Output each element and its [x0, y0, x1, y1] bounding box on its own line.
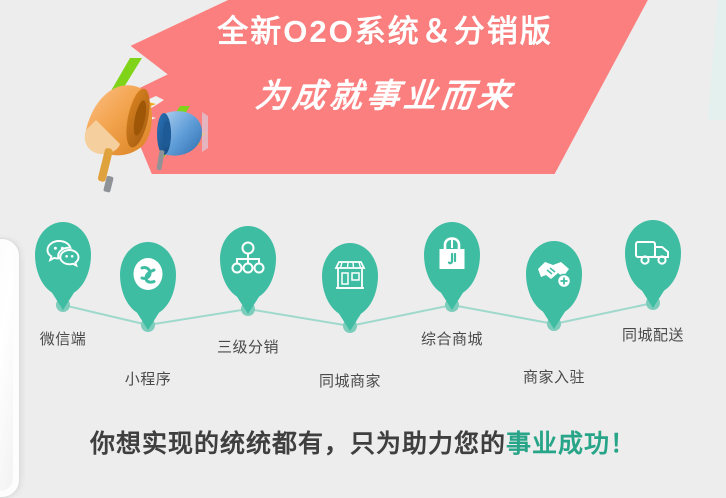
org-tree-icon — [220, 238, 276, 278]
feature-pin-merchant-join[interactable]: 商家入驻 — [526, 241, 582, 315]
tagline-plain-text: 你想实现的统统都有，只为助力您的 — [90, 430, 506, 458]
delivery-truck-icon — [625, 232, 681, 272]
pin-marker-shape — [625, 220, 681, 294]
shopping-bag-icon — [424, 234, 480, 274]
pin-marker-shape — [35, 222, 91, 296]
handshake-plus-icon — [526, 253, 582, 293]
pin-marker-shape — [120, 242, 176, 316]
megaphone-orange-icon — [85, 85, 154, 192]
wechat-bubbles-icon — [35, 234, 91, 274]
feature-pin-label: 小程序 — [125, 368, 172, 389]
megaphone-blue-icon — [156, 111, 208, 170]
feature-pin-miniprogram[interactable]: 小程序 — [120, 242, 176, 316]
feature-pin-local-merchant[interactable]: 同城商家 — [322, 243, 378, 317]
feature-pin-label: 商家入驻 — [523, 366, 585, 387]
pin-marker-shape — [220, 226, 276, 300]
banner-title: 全新O2O系统＆分销版 — [120, 12, 650, 52]
feature-pin-label: 同城配送 — [622, 324, 684, 345]
feature-pin-distribution[interactable]: 三级分销 — [220, 226, 276, 300]
megaphone-illustration — [52, 50, 222, 200]
promo-banner-page: 全新O2O系统＆分销版 为成就事业而来 — [0, 0, 726, 475]
mini-program-icon — [120, 254, 176, 294]
feature-pin-label: 三级分销 — [217, 336, 279, 357]
pin-marker-shape — [526, 241, 582, 315]
feature-pin-local-delivery[interactable]: 同城配送 — [625, 220, 681, 294]
feature-pin-mall[interactable]: 综合商城 — [424, 222, 480, 296]
feature-pin-label: 微信端 — [40, 328, 87, 349]
tagline-highlight-text: 事业成功！ — [506, 430, 636, 458]
pin-marker-shape — [424, 222, 480, 296]
feature-pin-wechat[interactable]: 微信端 — [35, 222, 91, 296]
pin-marker-shape — [322, 243, 378, 317]
feature-pin-label: 同城商家 — [319, 370, 381, 391]
corner-wedge-decoration — [696, 0, 726, 120]
bottom-tagline: 你想实现的统统都有，只为助力您的事业成功！ — [0, 424, 726, 460]
feature-pin-row: 微信端 小程序 — [0, 210, 726, 390]
storefront-icon — [322, 255, 378, 295]
feature-pin-label: 综合商城 — [421, 328, 483, 349]
